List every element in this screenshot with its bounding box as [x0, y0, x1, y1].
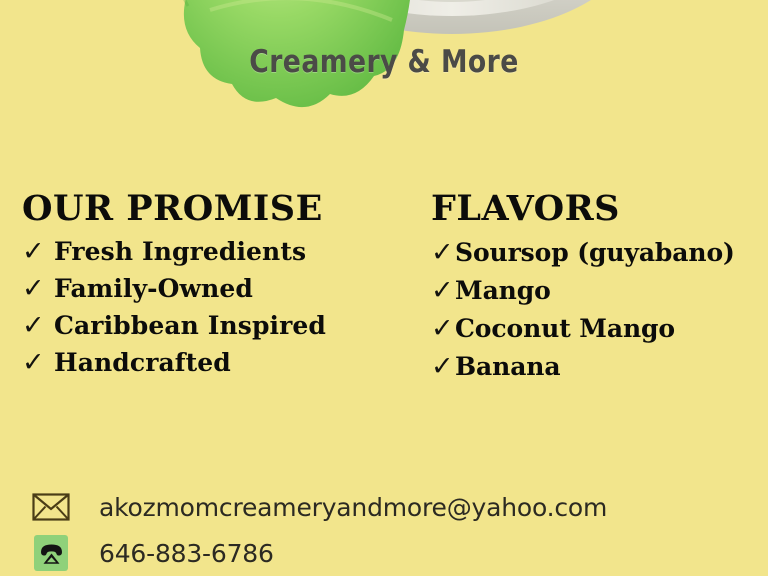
contact-row-email: akozmomcreameryandmore@yahoo.com [28, 484, 740, 530]
telephone-icon [28, 534, 74, 572]
list-item: ✓ Mango [431, 272, 768, 309]
check-icon: ✓ [431, 275, 455, 306]
list-item: ✓ Coconut Mango [431, 310, 768, 347]
flavors-list: ✓ Soursop (guyabano) ✓ Mango ✓ Coconut M… [431, 234, 768, 385]
list-item: ✓ Family-Owned [22, 271, 415, 307]
envelope-icon-glyph [32, 493, 70, 521]
contact-block: akozmomcreameryandmore@yahoo.com 646-883… [28, 484, 740, 576]
list-item-label: Fresh Ingredients [54, 234, 306, 270]
promise-heading: OUR PROMISE [22, 190, 415, 228]
list-item-label: Handcrafted [54, 345, 231, 381]
flavors-heading: FLAVORS [431, 190, 768, 228]
list-item: ✓ Soursop (guyabano) [431, 234, 768, 271]
envelope-icon [28, 488, 74, 526]
flyer-canvas: Creamery & More OUR PROMISE ✓ Fresh Ingr… [0, 0, 768, 576]
list-item-label: Caribbean Inspired [54, 308, 326, 344]
contact-row-phone: 646-883-6786 [28, 530, 740, 576]
list-item-label: Coconut Mango [455, 310, 675, 347]
email-address[interactable]: akozmomcreameryandmore@yahoo.com [74, 493, 607, 522]
list-item-label: Soursop (guyabano) [455, 234, 735, 271]
list-item-label: Banana [455, 348, 560, 385]
list-item: ✓ Banana [431, 348, 768, 385]
check-icon: ✓ [22, 273, 54, 304]
check-icon: ✓ [431, 313, 455, 344]
check-icon: ✓ [22, 236, 54, 267]
check-icon: ✓ [22, 347, 54, 378]
brand-title: Creamery & More [54, 44, 714, 80]
flavors-column: FLAVORS ✓ Soursop (guyabano) ✓ Mango ✓ C… [415, 190, 768, 386]
list-item: ✓ Handcrafted [22, 345, 415, 381]
promise-list: ✓ Fresh Ingredients ✓ Family-Owned ✓ Car… [22, 234, 415, 381]
list-item: ✓ Fresh Ingredients [22, 234, 415, 270]
list-item-label: Mango [455, 272, 551, 309]
telephone-icon-glyph [38, 542, 65, 565]
list-item-label: Family-Owned [54, 271, 253, 307]
check-icon: ✓ [431, 351, 455, 382]
check-icon: ✓ [22, 310, 54, 341]
promise-column: OUR PROMISE ✓ Fresh Ingredients ✓ Family… [0, 190, 415, 382]
content-columns: OUR PROMISE ✓ Fresh Ingredients ✓ Family… [0, 190, 768, 386]
check-icon: ✓ [431, 237, 455, 268]
hero-logo-area: Creamery & More [0, 0, 768, 125]
telephone-icon-badge [34, 535, 68, 571]
list-item: ✓ Caribbean Inspired [22, 308, 415, 344]
phone-number[interactable]: 646-883-6786 [74, 539, 274, 568]
